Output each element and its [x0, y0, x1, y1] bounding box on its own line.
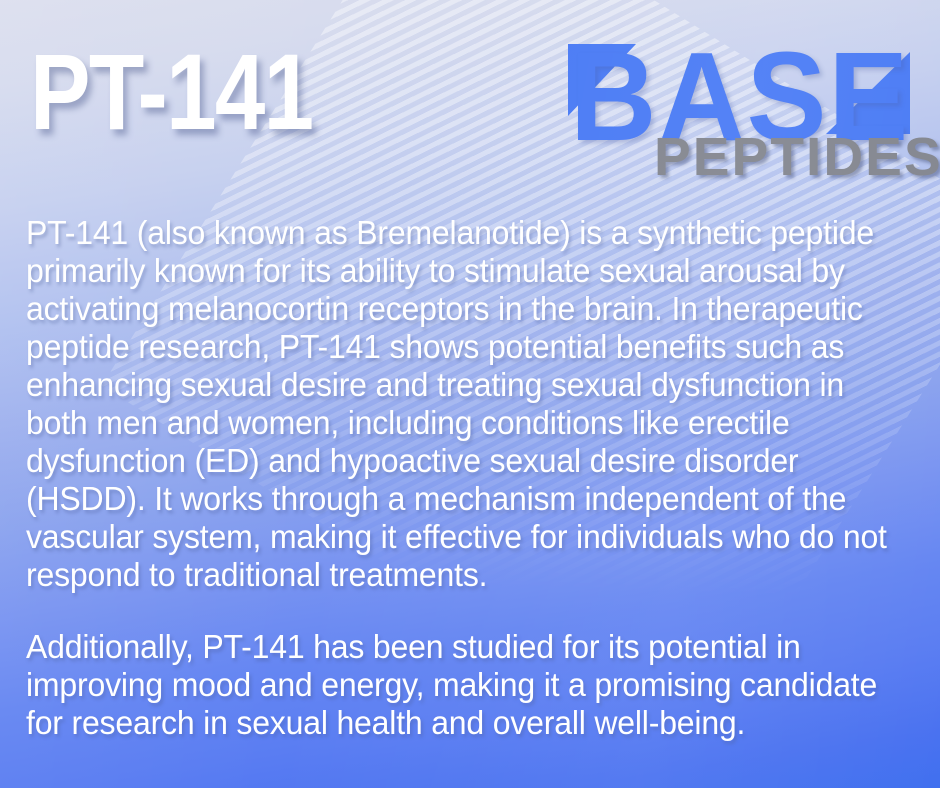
page-title: PT-141 — [30, 36, 312, 148]
logo-brand-secondary: PEPTIDES — [654, 130, 940, 184]
brand-logo: BASE PEPTIDES — [526, 22, 916, 182]
body-copy: PT-141 (also known as Bremelanotide) is … — [26, 214, 891, 742]
poster-canvas: PT-141 BASE PEPTIDES PT-141 (also known … — [0, 0, 940, 788]
paragraph-2: Additionally, PT-141 has been studied fo… — [26, 628, 891, 742]
paragraph-1: PT-141 (also known as Bremelanotide) is … — [26, 214, 891, 594]
